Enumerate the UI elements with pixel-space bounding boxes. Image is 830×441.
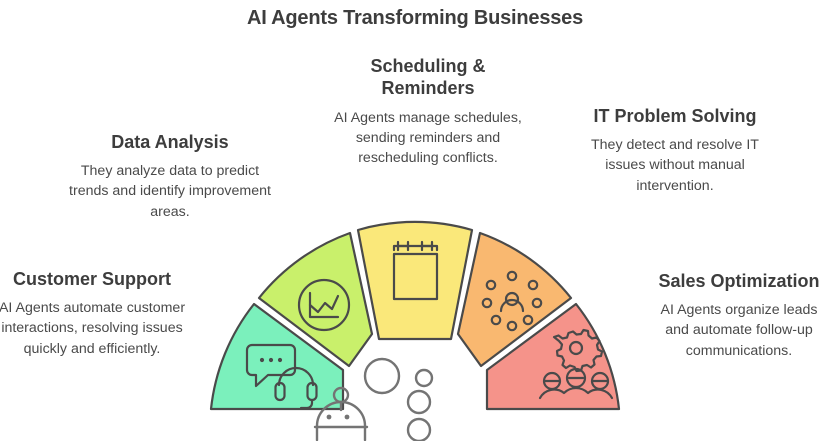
segment-label-it-problem-solving: IT Problem Solving They detect and resol… bbox=[572, 105, 778, 196]
network-person-icon bbox=[483, 272, 541, 330]
segment-body-customer-support: AI Agents automate customer interactions… bbox=[0, 298, 190, 358]
wheel-segment-scheduling-reminders-shape[interactable] bbox=[358, 222, 472, 339]
semicircle-diagram bbox=[195, 208, 635, 441]
segment-heading-sales-optimization: Sales Optimization bbox=[648, 270, 830, 292]
segment-body-it-problem-solving: They detect and resolve IT issues withou… bbox=[572, 135, 778, 195]
segment-body-sales-optimization: AI Agents organize leads and automate fo… bbox=[648, 300, 830, 360]
segment-heading-customer-support: Customer Support bbox=[0, 268, 190, 290]
segment-heading-scheduling-reminders: Scheduling & Reminders bbox=[322, 55, 534, 100]
segment-label-sales-optimization: Sales Optimization AI Agents organize le… bbox=[648, 270, 830, 361]
page-title: AI Agents Transforming Businesses bbox=[0, 7, 830, 30]
segment-heading-it-problem-solving: IT Problem Solving bbox=[572, 105, 778, 127]
segment-label-scheduling-reminders: Scheduling & Reminders AI Agents manage … bbox=[322, 55, 534, 168]
segment-heading-data-analysis: Data Analysis bbox=[62, 131, 278, 153]
segment-label-customer-support: Customer Support AI Agents automate cust… bbox=[0, 268, 190, 359]
wheel-segment-scheduling-reminders[interactable] bbox=[358, 222, 472, 339]
segment-body-scheduling-reminders: AI Agents manage schedules, sending remi… bbox=[322, 108, 534, 168]
